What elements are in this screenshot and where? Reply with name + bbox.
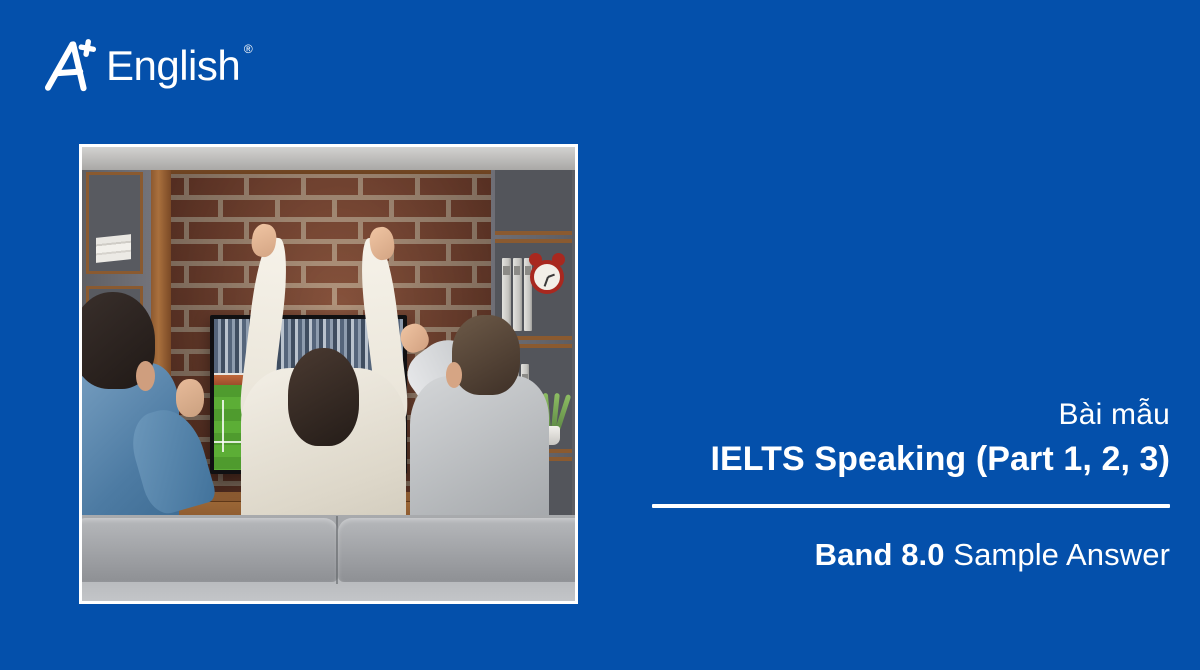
band-score-suffix: Sample Answer [945,537,1170,572]
slide-canvas: English ® [0,0,1200,670]
band-score-label: Band 8.0 [815,537,945,572]
grey-sofa [82,515,575,601]
hero-photo-frame [79,144,578,604]
ceiling [82,147,575,170]
shelf-cell-books [86,172,143,274]
shelf-cell-empty-top [495,165,572,235]
brand-logo[interactable]: English ® [40,34,270,98]
band-score-line: Band 8.0 Sample Answer [610,536,1170,573]
person-left-cheering [82,292,220,546]
brand-wordmark: English ® [106,45,240,87]
a-plus-logo-icon [40,35,102,97]
hero-photo [82,147,575,601]
divider [652,504,1170,508]
page-title: IELTS Speaking (Part 1, 2, 3) [610,439,1170,480]
alarm-clock-icon [530,260,564,294]
headline-block: Bài mẫu IELTS Speaking (Part 1, 2, 3) Ba… [610,398,1170,573]
person-center-arms-raised [230,224,417,551]
books-stack [96,235,131,264]
subtitle: Bài mẫu [610,398,1170,433]
registered-trademark-icon: ® [244,43,252,55]
brand-wordmark-text: English [106,42,240,89]
